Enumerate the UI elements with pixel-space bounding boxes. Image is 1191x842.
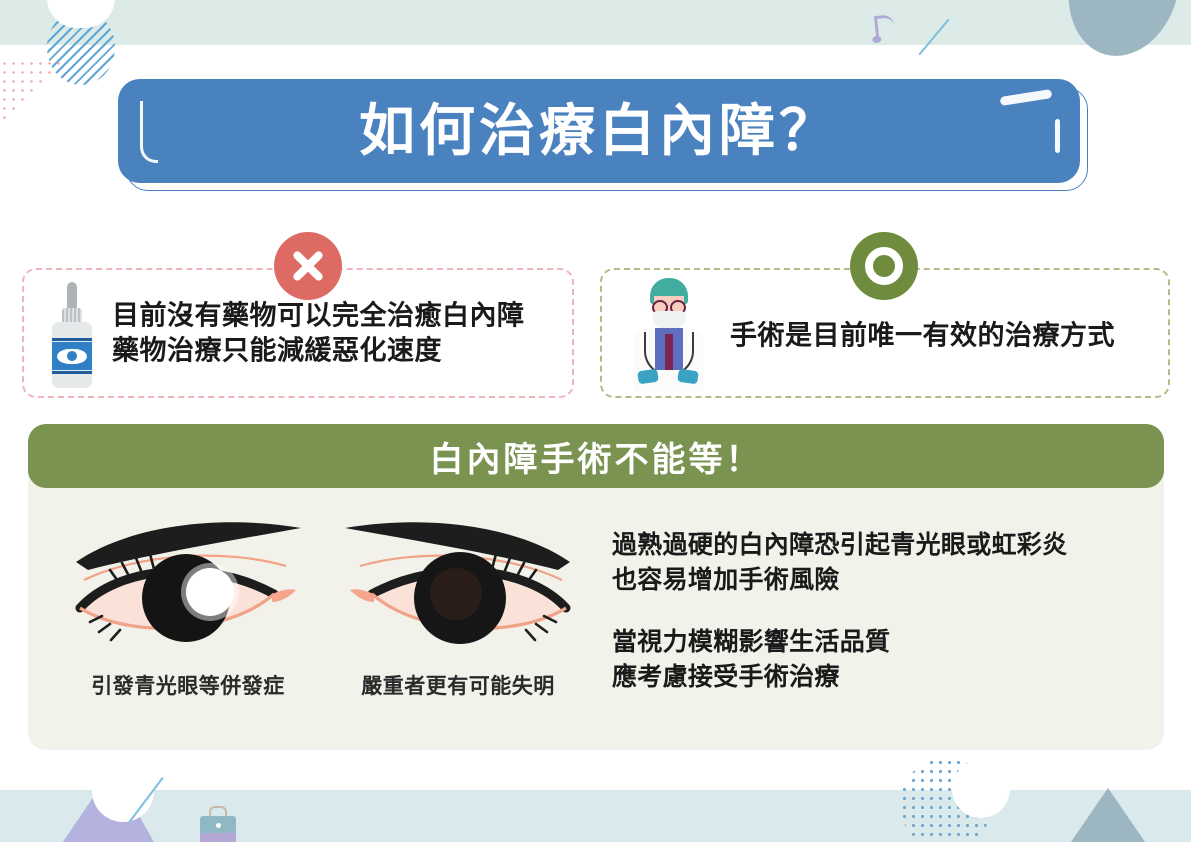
banner-highlight-left [140,101,158,163]
infographic-canvas: 如何治療白內障？ 目前沒有藥物可以完全治癒白內障 藥物治療只能減緩惡化速度 手術… [0,0,1191,842]
info-card-row: 目前沒有藥物可以完全治癒白內障 藥物治療只能減緩惡化速度 手術是目前唯一有效的治… [22,268,1170,398]
card-left-line-1: 目前沒有藥物可以完全治癒白內障 [112,298,525,333]
panel-body-text: 過熟過硬的白內障恐引起青光眼或虹彩炎 也容易增加手術風險 當視力模糊影響生活品質… [612,528,1152,694]
card-right-text: 手術是目前唯一有效的治療方式 [730,314,1115,353]
panel-paragraph-1-line-1: 過熟過硬的白內障恐引起青光眼或虹彩炎 [612,528,1152,563]
panel-paragraph-2-line-1: 當視力模糊影響生活品質 [612,625,1152,660]
x-mark-badge [274,232,342,300]
banner-highlight-right [1000,89,1053,106]
top-color-band [0,0,1191,45]
banner-highlight-right-2 [1055,119,1060,153]
cataract-white-lens-eye [58,510,318,660]
circle-o-ring [865,247,903,285]
title-banner-bar: 如何治療白內障？ [118,79,1080,183]
eye-drop-bottle-icon [46,282,98,388]
medical-bag-icon [200,806,236,842]
panel-heading-bar: 白內障手術不能等！ [28,424,1164,488]
dark-pupil-eye [328,510,588,660]
doctor-icon [628,278,708,392]
eye-caption-2: 嚴重者更有可能失明 [328,670,588,700]
panel-heading-text: 白內障手術不能等！ [430,432,763,481]
panel-paragraph-1-line-2: 也容易增加手術風險 [612,563,1152,598]
circle-o-badge [850,232,918,300]
white-circle-decoration-right [952,760,1010,818]
urgency-panel: 白內障手術不能等！ 引發青光眼等併發症 [28,424,1164,750]
bottom-color-band [0,790,1191,842]
card-left-line-2: 藥物治療只能減緩惡化速度 [112,333,525,368]
panel-paragraph-2-line-2: 應考慮接受手術治療 [612,660,1152,695]
card-left-text: 目前沒有藥物可以完全治癒白內障 藥物治療只能減緩惡化速度 [112,298,525,367]
eye-illustration-blindness: 嚴重者更有可能失明 [328,510,588,700]
page-title: 如何治療白內障？ [359,103,839,159]
title-banner: 如何治療白內障？ [118,79,1080,191]
white-circle-decoration [92,760,154,822]
paragraph-spacer [612,597,1152,625]
eye-caption-1: 引發青光眼等併發症 [58,670,318,700]
eye-illustration-cataract: 引發青光眼等併發症 [58,510,318,700]
